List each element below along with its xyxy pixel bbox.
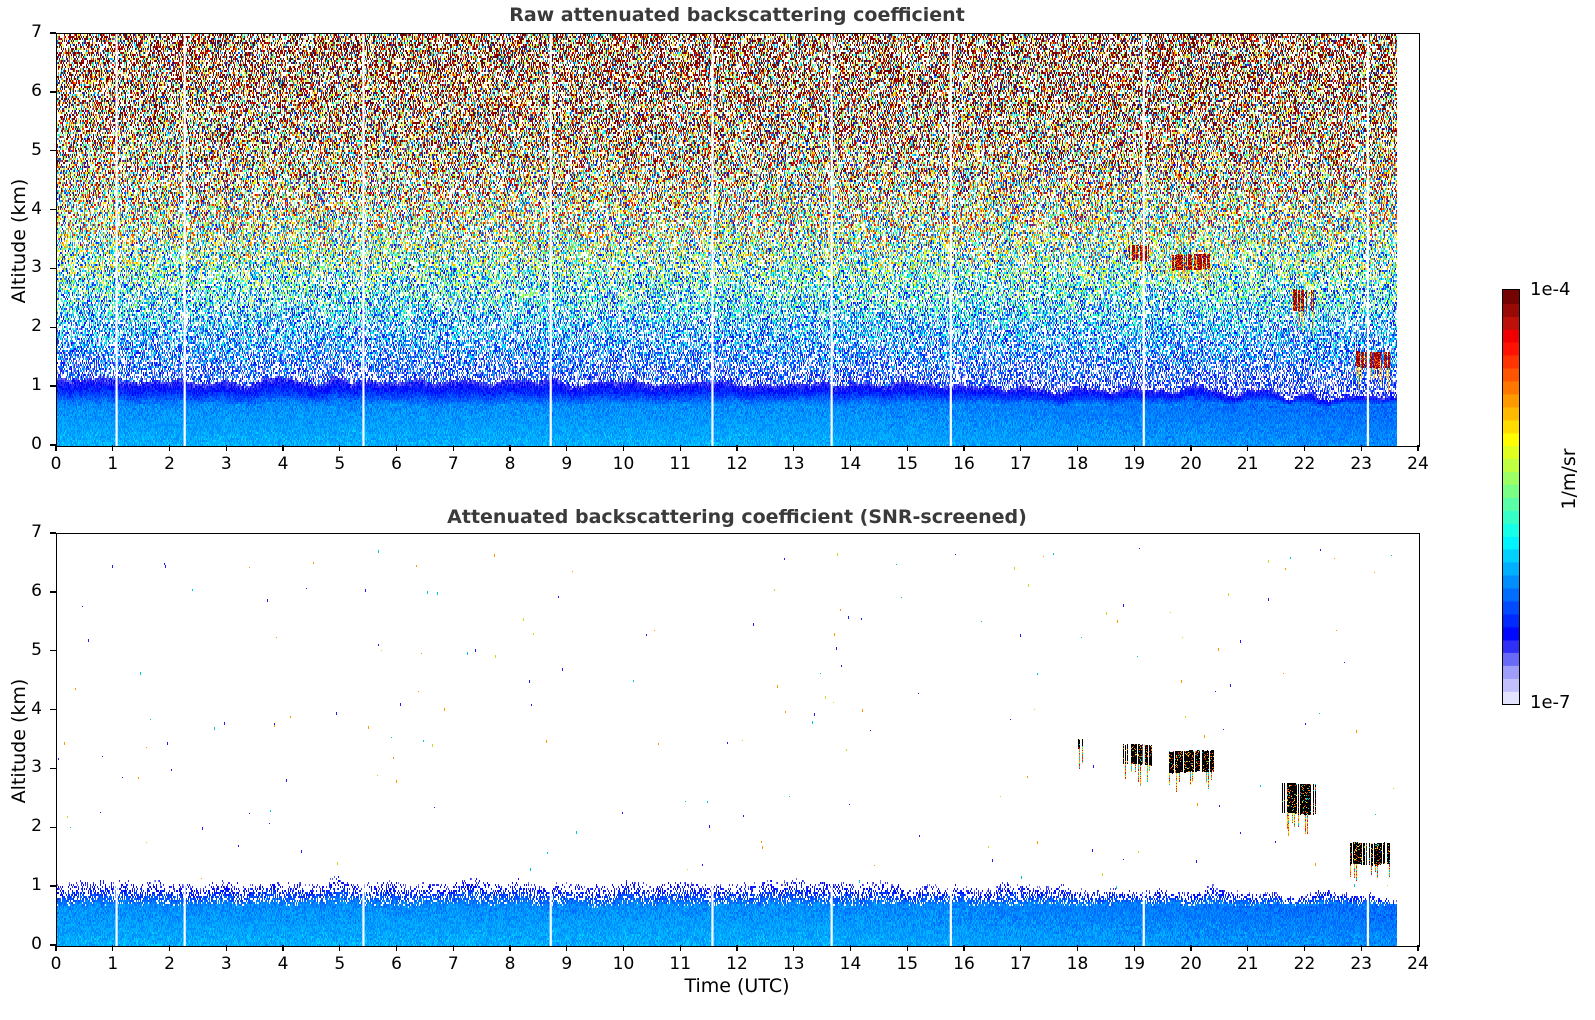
x-tick-label: 6 (377, 954, 417, 974)
x-tick (850, 945, 851, 951)
x-tick-label: 23 (1341, 454, 1381, 474)
colorbar-gradient (1502, 289, 1520, 705)
y-tick (50, 32, 56, 33)
screened-backscatter-plot-area (56, 533, 1420, 947)
colorbar-unit-label: 1/m/sr (1558, 389, 1580, 569)
x-tick (566, 945, 567, 951)
x-tick (1247, 445, 1248, 451)
lidar-quicklook-figure: Raw attenuated backscattering coefficien… (0, 0, 1595, 1020)
x-tick-label: 15 (887, 954, 927, 974)
x-tick (169, 945, 170, 951)
x-tick (1417, 445, 1418, 451)
x-tick (339, 945, 340, 951)
x-tick-label: 11 (660, 454, 700, 474)
x-tick (1077, 445, 1078, 451)
y-tick (50, 385, 56, 386)
x-tick (112, 945, 113, 951)
x-tick (623, 945, 624, 951)
x-tick-label: 7 (433, 954, 473, 974)
x-tick (453, 445, 454, 451)
x-tick (1134, 445, 1135, 451)
x-tick-label: 22 (1285, 954, 1325, 974)
x-tick (1020, 445, 1021, 451)
x-tick-label: 6 (377, 454, 417, 474)
x-tick (1304, 945, 1305, 951)
x-tick-label: 12 (717, 954, 757, 974)
x-tick (509, 445, 510, 451)
x-tick (226, 945, 227, 951)
x-tick-label: 5 (320, 454, 360, 474)
x-tick-label: 17 (1001, 954, 1041, 974)
x-tick (1247, 945, 1248, 951)
x-tick (1020, 945, 1021, 951)
x-tick-label: 23 (1341, 954, 1381, 974)
colorbar-min-label: 1e-7 (1530, 692, 1570, 713)
x-tick-label: 19 (1114, 454, 1154, 474)
x-tick-label: 16 (944, 954, 984, 974)
y-tick-label: 2 (8, 316, 42, 336)
x-tick (1361, 445, 1362, 451)
y-tick (50, 768, 56, 769)
x-tick-label: 5 (320, 954, 360, 974)
y-tick-label: 4 (8, 199, 42, 219)
colorbar (1502, 289, 1520, 705)
y-tick-label: 6 (8, 81, 42, 101)
x-tick-label: 20 (1171, 954, 1211, 974)
x-tick-label: 3 (206, 454, 246, 474)
y-tick (50, 650, 56, 651)
y-tick (50, 209, 56, 210)
y-tick-label: 6 (8, 581, 42, 601)
x-tick-label: 1 (93, 454, 133, 474)
x-tick (1190, 445, 1191, 451)
x-tick (1190, 945, 1191, 951)
x-tick (1417, 945, 1418, 951)
y-tick-label: 5 (8, 140, 42, 160)
x-tick (736, 445, 737, 451)
x-tick-label: 13 (774, 454, 814, 474)
y-tick-label: 0 (8, 934, 42, 954)
x-tick (1134, 945, 1135, 951)
x-tick-label: 11 (660, 954, 700, 974)
bottom-x-axis-label: Time (UTC) (56, 975, 1418, 997)
x-tick-label: 24 (1398, 954, 1438, 974)
x-tick (396, 445, 397, 451)
x-tick (169, 445, 170, 451)
bottom-panel-title: Attenuated backscattering coefficient (S… (56, 506, 1418, 528)
y-tick-label: 1 (8, 875, 42, 895)
x-tick (680, 445, 681, 451)
raw-backscatter-plot-area (56, 33, 1420, 447)
y-tick-label: 2 (8, 816, 42, 836)
x-tick-label: 14 (831, 454, 871, 474)
y-tick (50, 944, 56, 945)
x-tick (680, 945, 681, 951)
x-tick-label: 20 (1171, 454, 1211, 474)
x-tick (226, 445, 227, 451)
y-tick (50, 150, 56, 151)
x-tick (850, 445, 851, 451)
y-tick-label: 7 (8, 22, 42, 42)
x-tick (55, 445, 56, 451)
x-tick (282, 445, 283, 451)
x-tick (396, 945, 397, 951)
x-tick-label: 4 (263, 954, 303, 974)
x-tick-label: 14 (831, 954, 871, 974)
y-tick (50, 709, 56, 710)
x-tick-label: 13 (774, 954, 814, 974)
y-tick (50, 91, 56, 92)
screened-backscatter-heatmap (57, 534, 1419, 946)
x-tick-label: 0 (36, 954, 76, 974)
y-tick-label: 5 (8, 640, 42, 660)
x-tick-label: 2 (150, 454, 190, 474)
raw-backscatter-heatmap (57, 34, 1419, 446)
x-tick-label: 0 (36, 454, 76, 474)
x-tick-label: 7 (433, 454, 473, 474)
top-panel-title: Raw attenuated backscattering coefficien… (56, 4, 1418, 26)
y-tick (50, 532, 56, 533)
y-tick-label: 4 (8, 699, 42, 719)
y-tick-label: 3 (8, 257, 42, 277)
x-tick-label: 9 (547, 454, 587, 474)
y-tick (50, 268, 56, 269)
x-tick (963, 445, 964, 451)
colorbar-max-label: 1e-4 (1530, 279, 1570, 300)
x-tick (339, 445, 340, 451)
x-tick-label: 19 (1114, 954, 1154, 974)
x-tick-label: 21 (1228, 454, 1268, 474)
y-tick (50, 885, 56, 886)
y-tick-label: 3 (8, 757, 42, 777)
x-tick-label: 18 (1058, 454, 1098, 474)
x-tick-label: 16 (944, 454, 984, 474)
x-tick (963, 945, 964, 951)
x-tick-label: 4 (263, 454, 303, 474)
y-tick-label: 0 (8, 434, 42, 454)
x-tick (907, 445, 908, 451)
x-tick (509, 945, 510, 951)
x-tick (55, 945, 56, 951)
x-tick (907, 945, 908, 951)
x-tick (1304, 445, 1305, 451)
x-tick-label: 15 (887, 454, 927, 474)
y-tick-label: 7 (8, 522, 42, 542)
x-tick-label: 22 (1285, 454, 1325, 474)
x-tick-label: 8 (490, 954, 530, 974)
x-tick (282, 945, 283, 951)
x-tick-label: 12 (717, 454, 757, 474)
x-tick (793, 945, 794, 951)
y-tick (50, 591, 56, 592)
x-tick-label: 9 (547, 954, 587, 974)
x-tick (1077, 945, 1078, 951)
x-tick (793, 445, 794, 451)
x-tick-label: 1 (93, 954, 133, 974)
x-tick (566, 445, 567, 451)
x-tick (736, 945, 737, 951)
y-tick (50, 444, 56, 445)
x-tick (1361, 945, 1362, 951)
x-tick-label: 18 (1058, 954, 1098, 974)
x-tick-label: 10 (604, 954, 644, 974)
x-tick (453, 945, 454, 951)
x-tick (623, 445, 624, 451)
x-tick-label: 17 (1001, 454, 1041, 474)
x-tick-label: 2 (150, 954, 190, 974)
y-tick (50, 827, 56, 828)
x-tick-label: 24 (1398, 454, 1438, 474)
x-tick-label: 3 (206, 954, 246, 974)
x-tick-label: 8 (490, 454, 530, 474)
x-tick-label: 21 (1228, 954, 1268, 974)
x-tick (112, 445, 113, 451)
y-tick-label: 1 (8, 375, 42, 395)
x-tick-label: 10 (604, 454, 644, 474)
y-tick (50, 327, 56, 328)
